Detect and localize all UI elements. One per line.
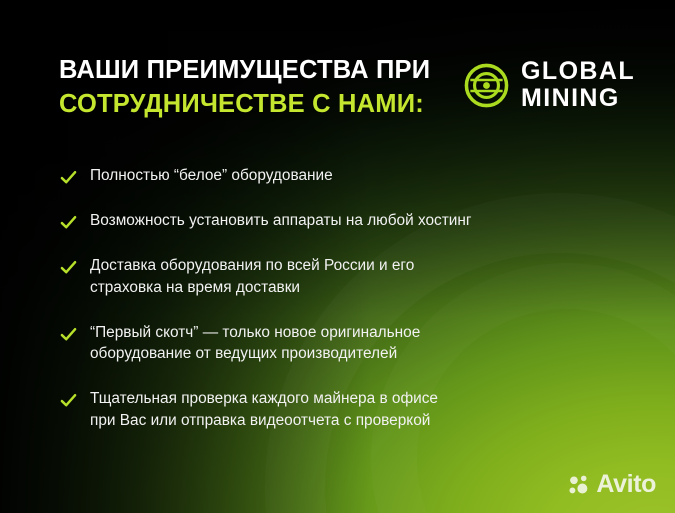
check-icon (60, 392, 77, 409)
list-item-line-1: Доставка оборудования по всей России и е… (90, 257, 414, 274)
list-item-text: Возможность установить аппараты на любой… (90, 210, 472, 232)
headline-line-1: ВАШИ ПРЕИМУЩЕСТВА ПРИ (59, 56, 430, 86)
headline-line-2: СОТРУДНИЧЕСТВЕ С НАМИ: (59, 90, 430, 120)
banner-header: ВАШИ ПРЕИМУЩЕСТВА ПРИ СОТРУДНИЧЕСТВЕ С Н… (59, 56, 635, 119)
list-item: Тщательная проверка каждого майнера в оф… (60, 388, 639, 432)
list-item-line-1: Тщательная проверка каждого майнера в оф… (90, 390, 438, 407)
list-item-text: Полностью “белое” оборудование (90, 165, 333, 187)
avito-watermark: Avito (568, 470, 656, 499)
page-title: ВАШИ ПРЕИМУЩЕСТВА ПРИ СОТРУДНИЧЕСТВЕ С Н… (59, 56, 430, 119)
check-icon (60, 259, 77, 276)
list-item: “Первый скотч” — только новое оригинальн… (60, 322, 639, 366)
brand-word-mining: MINING (521, 86, 635, 111)
advantages-list: Полностью “белое” оборудование Возможнос… (60, 165, 639, 432)
list-item-line-1: Возможность установить аппараты на любой… (90, 212, 472, 229)
brand-wordmark: GLOBAL MINING (521, 59, 635, 111)
brand-word-global: GLOBAL (521, 59, 635, 84)
check-icon (60, 326, 77, 343)
list-item: Возможность установить аппараты на любой… (60, 210, 639, 232)
list-item: Доставка оборудования по всей России и е… (60, 255, 639, 299)
list-item-line-2: оборудование от ведущих производителей (90, 343, 420, 365)
list-item-line-1: “Первый скотч” — только новое оригинальн… (90, 324, 420, 341)
list-item-text: Тщательная проверка каждого майнера в оф… (90, 388, 438, 432)
list-item-text: Доставка оборудования по всей России и е… (90, 255, 414, 299)
list-item-text: “Первый скотч” — только новое оригинальн… (90, 322, 420, 366)
banner-content: ВАШИ ПРЕИМУЩЕСТВА ПРИ СОТРУДНИЧЕСТВЕ С Н… (0, 0, 675, 513)
check-icon (60, 169, 77, 186)
list-item-line-1: Полностью “белое” оборудование (90, 167, 333, 184)
list-item-line-2: при Вас или отправка видеоотчета с прове… (90, 410, 438, 432)
advantages-banner: ВАШИ ПРЕИМУЩЕСТВА ПРИ СОТРУДНИЧЕСТВЕ С Н… (0, 0, 675, 513)
list-item: Полностью “белое” оборудование (60, 165, 639, 187)
brand-logo: GLOBAL MINING (463, 59, 635, 111)
global-mining-ring-icon (463, 62, 510, 109)
list-item-line-2: страховка на время доставки (90, 277, 414, 299)
avito-dots-icon (568, 473, 591, 496)
avito-wordmark: Avito (596, 470, 656, 499)
check-icon (60, 214, 77, 231)
